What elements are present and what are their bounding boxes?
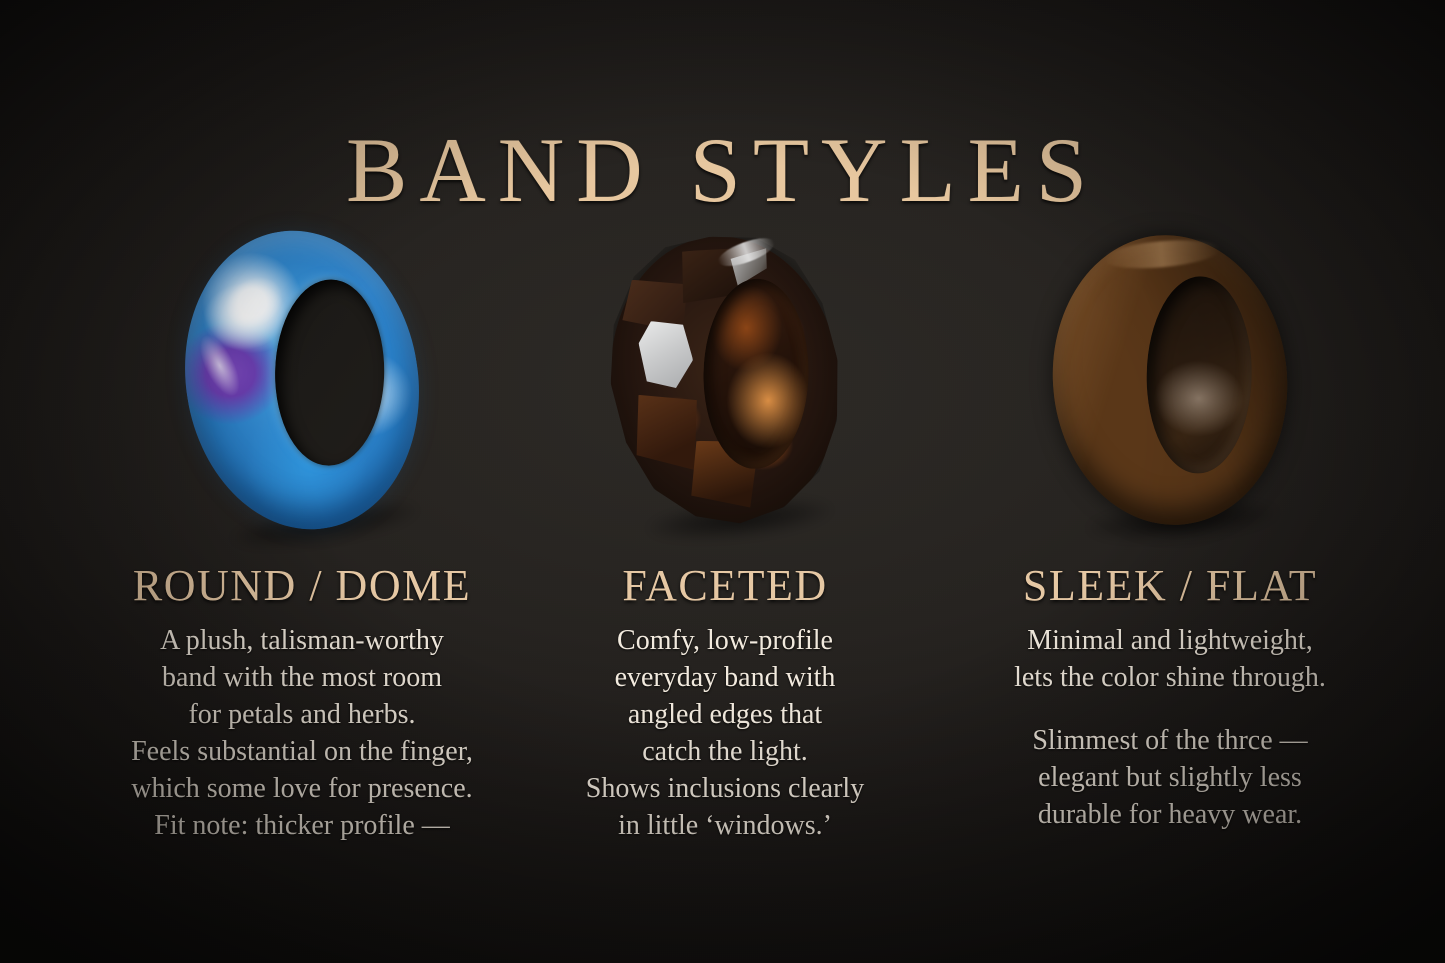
desc-line: A plush, talisman-worthy <box>32 623 572 660</box>
style-column-round-dome: ROUND / DOME A plush, talisman-worthy ba… <box>32 215 572 845</box>
page-title: BAND STYLES <box>0 124 1445 216</box>
desc-line: for petals and herbs. <box>32 697 572 734</box>
style-heading-faceted: FACETED <box>505 563 945 609</box>
desc-line: Fit note: thicker profile — <box>32 808 572 845</box>
style-columns: ROUND / DOME A plush, talisman-worthy ba… <box>0 215 1445 935</box>
desc-line: everyday band with <box>505 660 945 697</box>
style-description-faceted: Comfy, low-profile everyday band with an… <box>505 623 945 845</box>
desc-line: catch the light. <box>505 734 945 771</box>
ring-stage-faceted <box>505 215 945 545</box>
style-heading-round-dome: ROUND / DOME <box>32 563 572 609</box>
desc-line: lets the color shine through. <box>920 660 1420 697</box>
desc-line: which some love for presence. <box>32 771 572 808</box>
desc-line: angled edges that <box>505 697 945 734</box>
ring-stage-round-dome <box>32 215 572 545</box>
style-column-sleek-flat: SLEEK / FLAT Minimal and lightweight, le… <box>920 215 1420 834</box>
band-styles-poster: BAND STYLES ROUND / DOME A plush, talism… <box>0 0 1445 963</box>
ring-stage-sleek-flat <box>920 215 1420 545</box>
desc-line: band with the most room <box>32 660 572 697</box>
sleek-flat-ring-image <box>1041 225 1299 534</box>
desc-line: durable for heavy wear. <box>920 797 1420 834</box>
style-column-faceted: FACETED Comfy, low-profile everyday band… <box>505 215 945 845</box>
desc-line: Minimal and lightweight, <box>920 623 1420 660</box>
style-description-round-dome: A plush, talisman-worthy band with the m… <box>32 623 572 845</box>
style-heading-sleek-flat: SLEEK / FLAT <box>920 563 1420 609</box>
round-dome-ring-image <box>164 214 440 547</box>
desc-line: Comfy, low-profile <box>505 623 945 660</box>
faceted-ring-image <box>597 225 854 535</box>
desc-line: Feels substantial on the finger, <box>32 734 572 771</box>
desc-line: Slimmest of the thrce — <box>920 723 1420 760</box>
style-description-sleek-flat: Minimal and lightweight, lets the color … <box>920 623 1420 834</box>
desc-line: in little ‘windows.’ <box>505 808 945 845</box>
desc-line: Shows inclusions clearly <box>505 771 945 808</box>
desc-line: elegant but slightly less <box>920 760 1420 797</box>
